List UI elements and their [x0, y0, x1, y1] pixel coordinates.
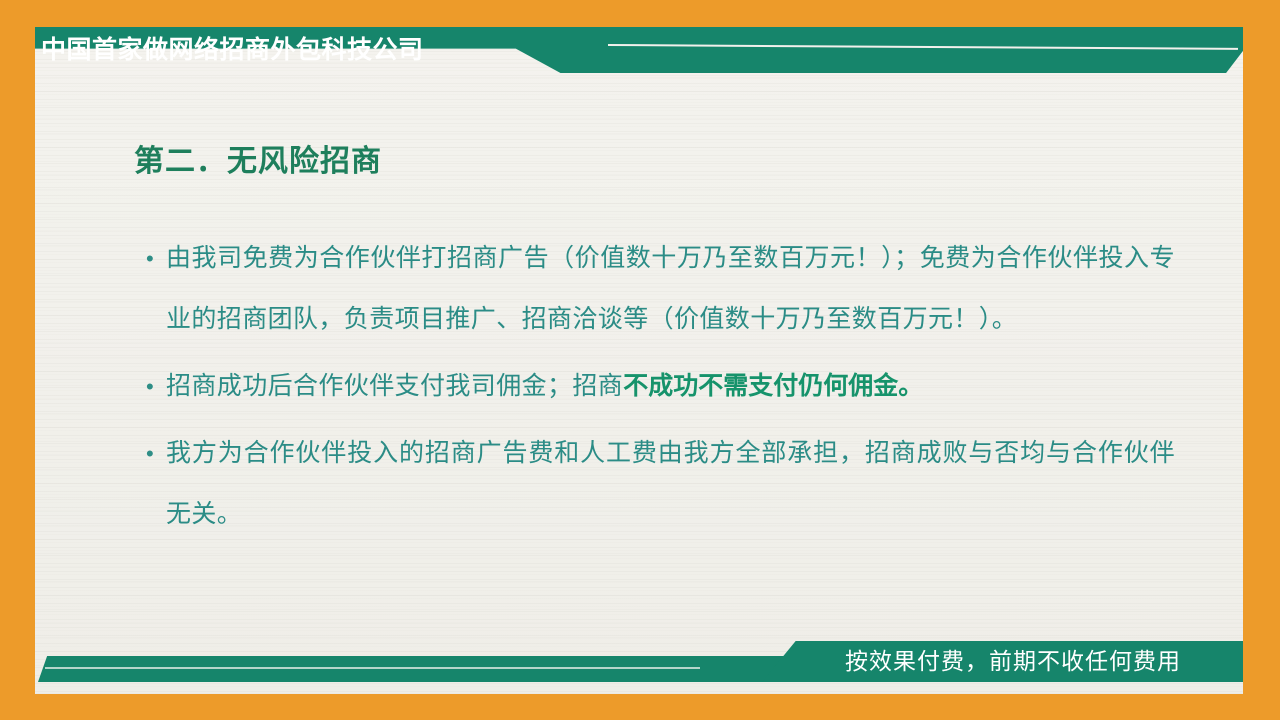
- footer-tagline: 按效果付费，前期不收任何费用: [845, 645, 1181, 677]
- list-item-text: 由我司免费为合作伙伴打招商广告（价值数十万乃至数百万元！）；免费为合作伙伴投入专…: [166, 228, 1175, 350]
- frame-edge-right: [1243, 0, 1280, 720]
- presentation-slide: 中国首家做网络招商外包科技公司 第二．无风险招商 • 由我司免费为合作伙伴打招商…: [0, 0, 1280, 720]
- frame-edge-top: [0, 0, 1280, 27]
- bullet-point-icon: •: [140, 423, 166, 484]
- list-item: • 由我司免费为合作伙伴打招商广告（价值数十万乃至数百万元！）；免费为合作伙伴投…: [140, 228, 1175, 350]
- list-item-text: 我方为合作伙伴投入的招商广告费和人工费由我方全部承担，招商成败与否均与合作伙伴无…: [166, 423, 1175, 545]
- footer-hairline-divider: [45, 667, 700, 669]
- footer-ribbon-left: [38, 656, 798, 682]
- bullet-point-icon: •: [140, 228, 166, 289]
- frame-edge-bottom: [0, 694, 1280, 720]
- page-title: 第二．无风险招商: [134, 136, 382, 180]
- list-item-text-emphasis: 不成功不需支付仍何佣金。: [623, 372, 923, 400]
- list-item-text: 招商成功后合作伙伴支付我司佣金；招商不成功不需支付仍何佣金。: [166, 356, 1175, 417]
- list-item: • 招商成功后合作伙伴支付我司佣金；招商不成功不需支付仍何佣金。: [140, 356, 1175, 417]
- list-item: • 我方为合作伙伴投入的招商广告费和人工费由我方全部承担，招商成败与否均与合作伙…: [140, 423, 1175, 545]
- list-item-text-plain: 招商成功后合作伙伴支付我司佣金；招商: [166, 373, 623, 400]
- bullet-list: • 由我司免费为合作伙伴打招商广告（价值数十万乃至数百万元！）；免费为合作伙伴投…: [140, 228, 1175, 551]
- bullet-point-icon: •: [140, 356, 166, 417]
- frame-edge-left: [0, 0, 35, 720]
- header-banner-text: 中国首家做网络招商外包科技公司: [41, 31, 561, 69]
- list-item-text-plain: 由我司免费为合作伙伴打招商广告（价值数十万乃至数百万元！）；免费为合作伙伴投入专…: [166, 245, 1175, 333]
- list-item-text-plain: 我方为合作伙伴投入的招商广告费和人工费由我方全部承担，招商成败与否均与合作伙伴无…: [166, 440, 1175, 528]
